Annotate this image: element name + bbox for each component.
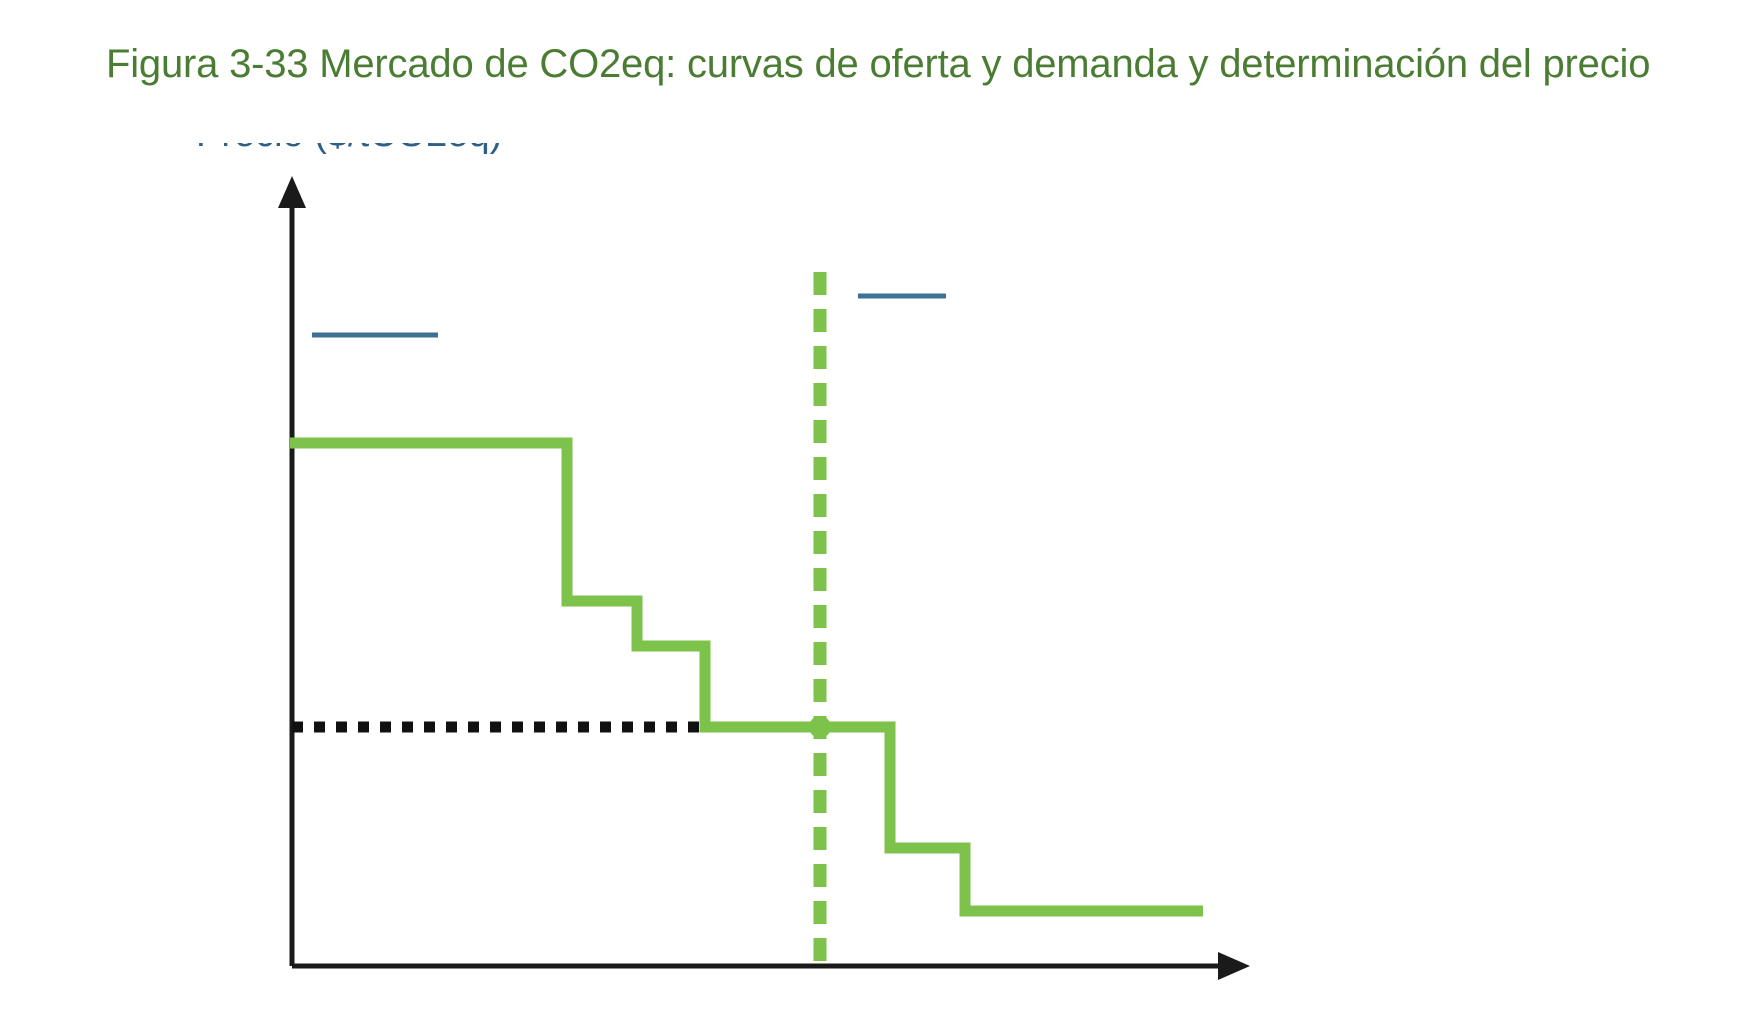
chart-plot-area xyxy=(0,0,1746,1028)
equilibrium-point-marker xyxy=(809,716,831,738)
supply-demand-step-curve xyxy=(290,443,1203,911)
y-axis-arrow-icon xyxy=(278,176,306,208)
y-axis xyxy=(278,176,306,966)
figure-container: Figura 3-33 Mercado de CO2eq: curvas de … xyxy=(0,0,1746,1028)
x-axis-arrow-icon xyxy=(1218,952,1250,980)
x-axis xyxy=(292,952,1250,980)
